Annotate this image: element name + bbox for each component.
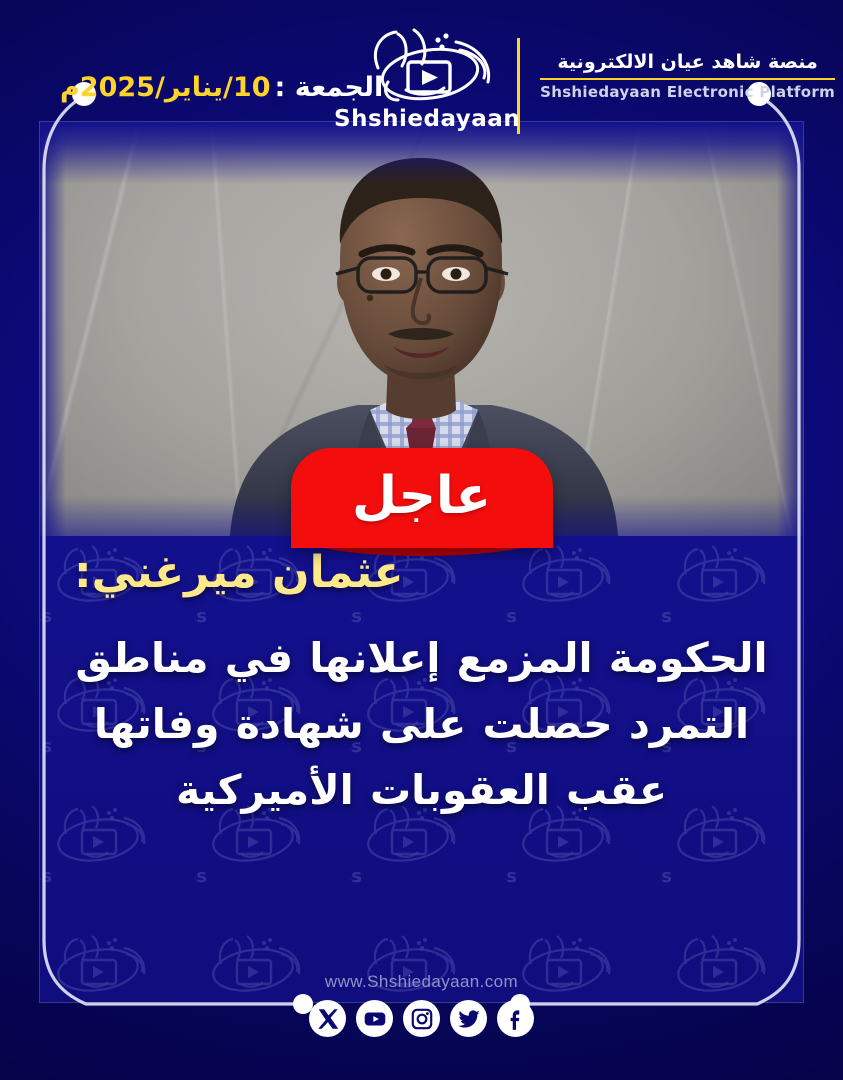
photo-left-fade [40,122,66,536]
breaking-news-badge: عاجل [291,448,553,548]
x-twitter-icon[interactable] [309,1000,346,1037]
twitter-bird-icon[interactable] [450,1000,487,1037]
headline-body: الحكومة المزمع إعلانها في مناطق التمرد ح… [74,625,769,824]
headline-block: عثمان ميرغني: الحكومة المزمع إعلانها في … [40,548,803,824]
logo-column: Shshiedayaan [347,26,507,132]
photo-right-fade [777,122,803,536]
date-display: الجمعة : 10/يناير/2025م [60,72,383,103]
shshiedayaan-logo-icon [352,26,502,108]
date-value: 10/يناير/2025م [60,72,271,103]
social-links [0,1000,843,1037]
header-bar: الجمعة : 10/يناير/2025م منصة شاهد عيان ا… [0,0,843,140]
youtube-icon[interactable] [356,1000,393,1037]
news-card: Eyewitness [0,0,843,1080]
logo-wordmark: Shshiedayaan [334,106,520,132]
brand-divider [540,78,835,80]
instagram-icon[interactable] [403,1000,440,1037]
breaking-badge-label: عاجل [352,470,491,522]
facebook-icon[interactable] [497,1000,534,1037]
footer-bar: www.Shshiedayaan.com [0,970,843,1080]
platform-titles: منصة شاهد عيان الالكترونية Shshiedayaan … [530,26,835,100]
platform-name-ar: منصة شاهد عيان الالكترونية [540,52,835,73]
platform-name-en: Shshiedayaan Electronic Platform [540,84,835,101]
brand-lockup: منصة شاهد عيان الالكترونية Shshiedayaan … [347,26,835,134]
website-url: www.Shshiedayaan.com [0,972,843,992]
